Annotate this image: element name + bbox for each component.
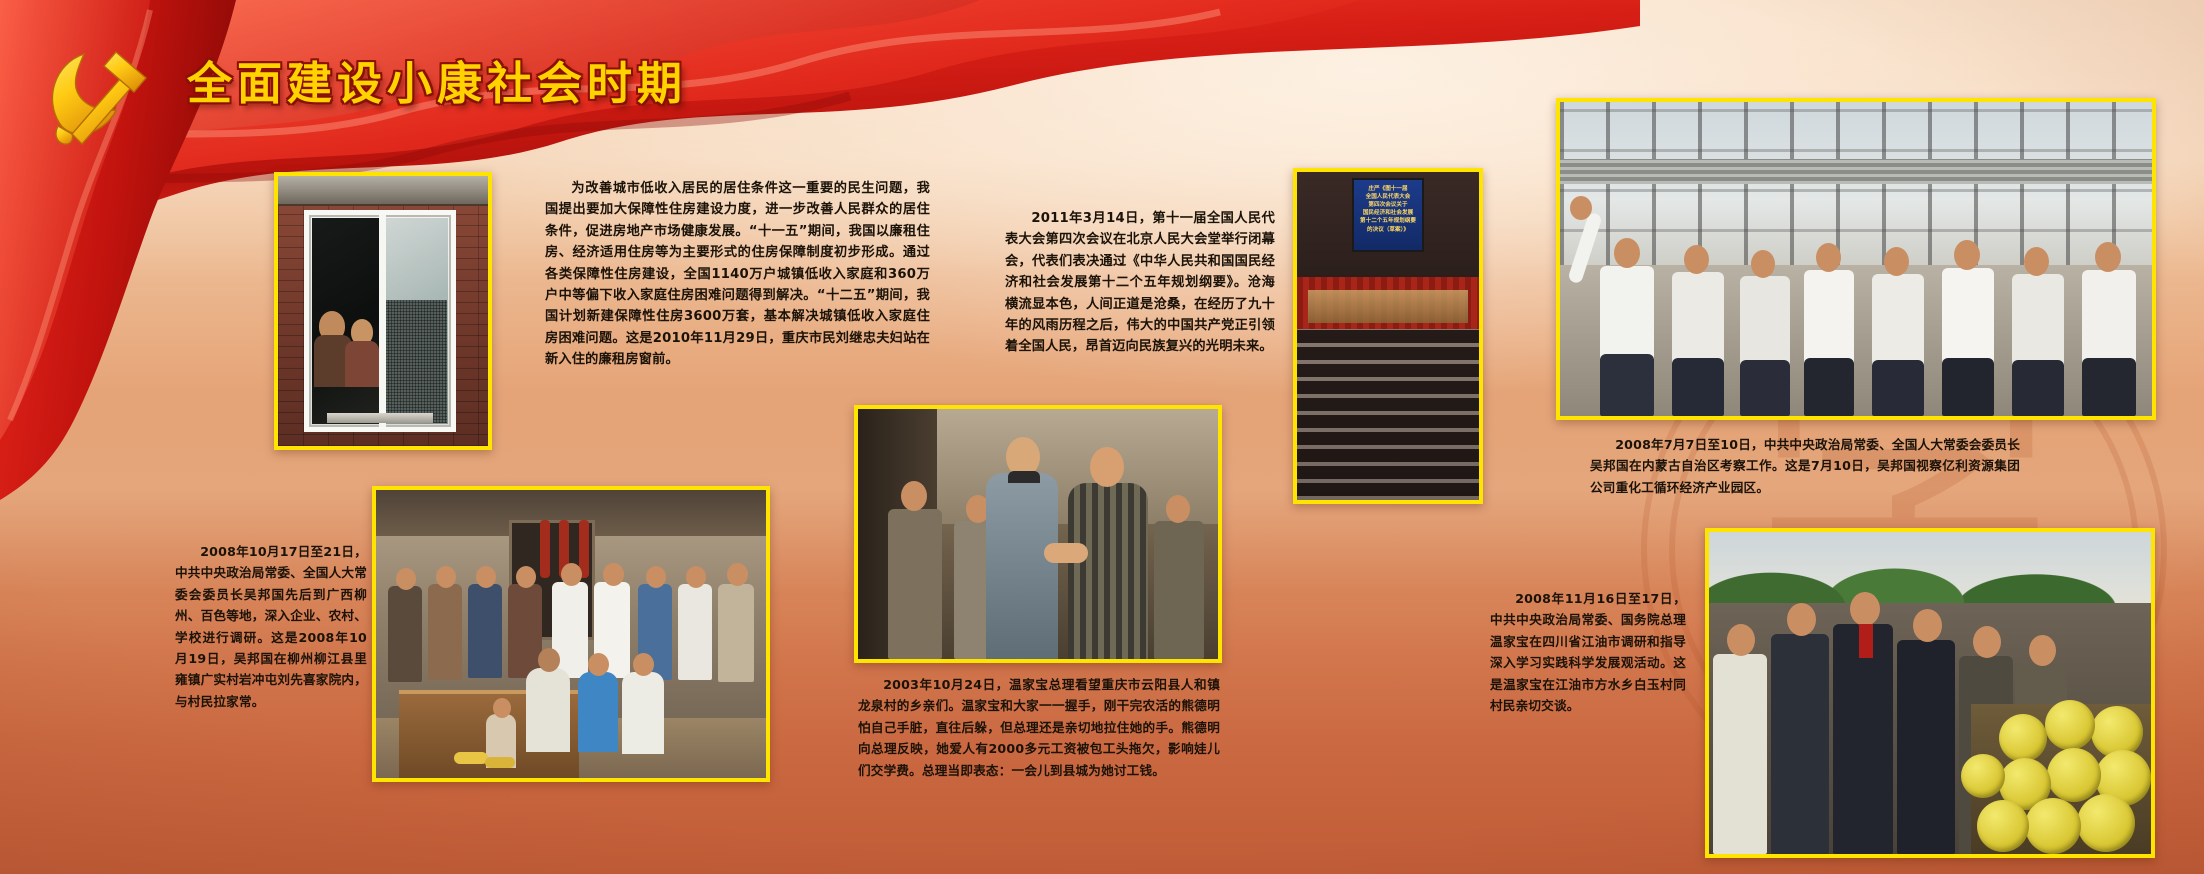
- caption-wenjiabao-yunyang: 2003年10月24日，温家宝总理看望重庆市云阳县人和镇龙泉村的乡亲们。温家宝和…: [858, 674, 1220, 781]
- photo-guangxi-village-courtyard: [372, 486, 770, 782]
- photo-wenjiabao-handshake: [854, 405, 1222, 663]
- caption-wenjiabao-jiangyou: 2008年11月16日至17日，中共中央政治局常委、国务院总理温家宝在四川省江油…: [1490, 588, 1686, 716]
- text-block-affordable-housing: 为改善城市低收入居民的居住条件这一重要的民生问题，我国提出要加大保障性住房建设力…: [545, 178, 930, 370]
- poster-canvas: 学 UNIVE 1926: [0, 0, 2204, 874]
- photo-jiangyou-village-talk: [1705, 528, 2155, 858]
- congress-hall-banner: 庄严《图十一届 全国人民代表大会 第四次会议关于 国民经济和社会发展 第十二个五…: [1352, 178, 1425, 252]
- photo-industrial-park-visit: [1556, 98, 2156, 420]
- text-block-npc-2011: 2011年3月14日，第十一届全国人民代表大会第四次会议在北京人民大会堂举行闭幕…: [1005, 208, 1275, 358]
- photo-npc-closing-session: 庄严《图十一届 全国人民代表大会 第四次会议关于 国民经济和社会发展 第十二个五…: [1293, 168, 1483, 504]
- page-title: 全面建设小康社会时期: [187, 47, 687, 112]
- caption-wubangguo-guangxi: 2008年10月17日至21日，中共中央政治局常委、全国人大常委会委员长吴邦国先…: [175, 541, 367, 712]
- caption-wubangguo-neimenggu: 2008年7月7日至10日，中共中央政治局常委、全国人大常委会委员长吴邦国在内蒙…: [1590, 434, 2020, 498]
- hammer-sickle-emblem-icon: [38, 38, 158, 158]
- photo-affordable-housing-window: [274, 172, 492, 450]
